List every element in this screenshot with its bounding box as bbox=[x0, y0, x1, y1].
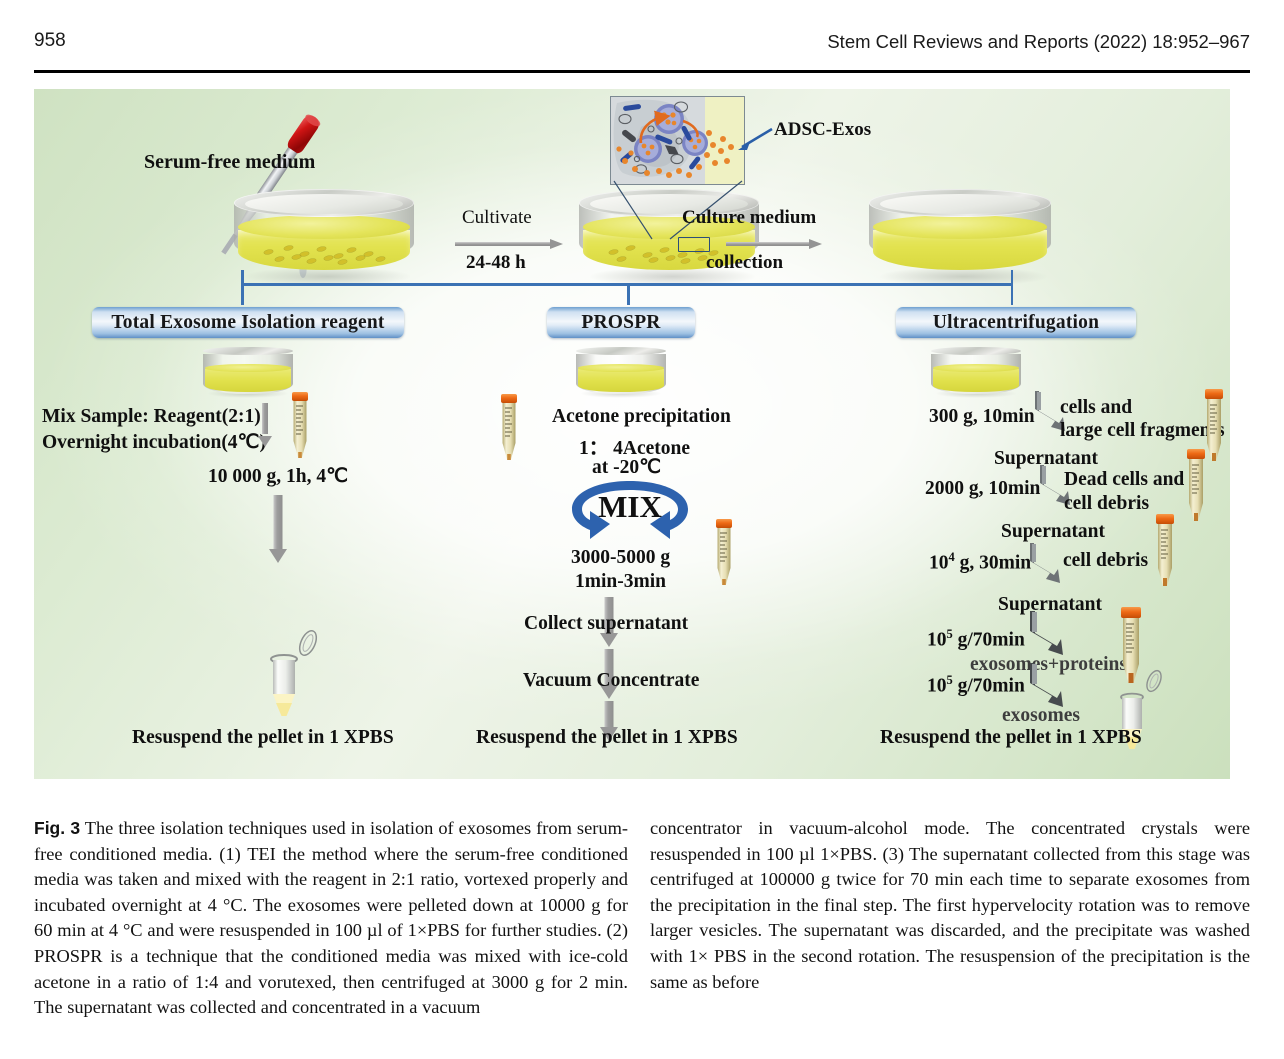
mix-circular-arrows-icon: MIX bbox=[560, 477, 700, 543]
tube-icon-prospr-2 bbox=[711, 519, 737, 589]
figure-caption-left: Fig. 3 The three isolation techniques us… bbox=[34, 816, 628, 1021]
uc-step5-tail: g/70min bbox=[953, 676, 1025, 697]
collection-arrow-icon bbox=[726, 239, 822, 249]
prospr-final: Resuspend the pellet in 1 XPBS bbox=[476, 727, 738, 749]
eppendorf-pellet-tube-tei bbox=[264, 627, 326, 719]
culture-medium-label: Culture medium bbox=[682, 207, 816, 229]
prospr-line1: Acetone precipitation bbox=[552, 406, 731, 428]
journal-citation: Stem Cell Reviews and Reports (2022) 18:… bbox=[827, 31, 1250, 53]
uc-step3-speed: 104 g, 30min bbox=[929, 550, 1031, 575]
figure-caption-left-text: The three isolation techniques used in i… bbox=[34, 818, 628, 1017]
uc-step4-base: 10 bbox=[927, 630, 947, 651]
prospr-collect: Collect supernatant bbox=[524, 613, 688, 635]
figure-caption-right: concentrator in vacuum-alcohol mode. The… bbox=[650, 816, 1250, 995]
uc-step1-out-a: cells and bbox=[1060, 397, 1132, 419]
cultivate-label: Cultivate bbox=[462, 207, 532, 229]
uc-bent-arrow-4 bbox=[1024, 609, 1072, 659]
uc-supernatant-2: Supernatant bbox=[1001, 521, 1105, 543]
svg-text:MIX: MIX bbox=[598, 489, 662, 524]
banner-ultracentrifugation[interactable]: Ultracentrifugation bbox=[896, 307, 1136, 338]
tei-arrow-2 bbox=[268, 495, 288, 563]
uc-step3-tail: g, 30min bbox=[955, 553, 1031, 574]
exosome-inset-image bbox=[610, 96, 745, 185]
uc-step2-out-b: cell debris bbox=[1064, 493, 1149, 515]
tei-mix-line2: Overnight incubation(4℃) bbox=[42, 430, 266, 454]
beaker-tei bbox=[203, 347, 293, 395]
uc-bent-arrow-5 bbox=[1024, 661, 1072, 711]
uc-step1-speed: 300 g, 10min bbox=[929, 406, 1035, 428]
tube-icon-uc-2 bbox=[1182, 449, 1210, 525]
header-rule bbox=[34, 70, 1250, 73]
tei-mix-line1: Mix Sample: Reagent(2:1) bbox=[42, 406, 261, 428]
prospr-vacuum: Vacuum Concentrate bbox=[523, 670, 699, 692]
tube-icon-prospr-1 bbox=[496, 394, 522, 464]
tei-spin-label: 10 000 g, 1h, 4℃ bbox=[208, 464, 348, 488]
serum-free-medium-label: Serum-free medium bbox=[144, 151, 315, 174]
branch-bracket bbox=[241, 270, 1013, 304]
uc-step3-base: 10 bbox=[929, 553, 949, 574]
prospr-spin1: 3000-5000 g bbox=[571, 547, 670, 569]
page-number: 958 bbox=[34, 30, 66, 52]
petri-dish-1 bbox=[234, 189, 414, 281]
cells-cluster bbox=[252, 242, 396, 266]
banner-tei-label: Total Exosome Isolation reagent bbox=[111, 312, 384, 334]
beaker-uc bbox=[931, 347, 1021, 395]
tei-arrow-1 bbox=[257, 403, 273, 447]
banner-uc-label: Ultracentrifugation bbox=[933, 312, 1099, 334]
beaker-prospr bbox=[576, 347, 666, 395]
uc-step2-out-a: Dead cells and bbox=[1064, 469, 1184, 491]
adsc-exos-arrow-icon bbox=[734, 125, 774, 155]
petri-dish-3 bbox=[869, 189, 1051, 281]
uc-bent-arrow-3 bbox=[1024, 541, 1068, 587]
figure-panel: Serum-free medium Cultivate 24-48 h bbox=[34, 89, 1230, 779]
cultivate-arrow-icon bbox=[455, 239, 563, 249]
prospr-spin2: 1min-3min bbox=[575, 571, 666, 593]
uc-step5-out: exosomes bbox=[1002, 705, 1080, 727]
banner-prospr-label: PROSPR bbox=[581, 312, 660, 334]
uc-step5-base: 10 bbox=[927, 676, 947, 697]
uc-step2-speed: 2000 g, 10min bbox=[925, 478, 1040, 500]
uc-step4-speed: 105 g/70min bbox=[927, 627, 1025, 652]
adsc-exos-label: ADSC-Exos bbox=[774, 119, 871, 141]
uc-final-label: Resuspend the pellet in 1 XPBS bbox=[880, 727, 1142, 749]
banner-prospr[interactable]: PROSPR bbox=[547, 307, 695, 338]
prospr-line3: at -20℃ bbox=[592, 455, 661, 479]
uc-step5-speed: 105 g/70min bbox=[927, 673, 1025, 698]
banner-tei[interactable]: Total Exosome Isolation reagent bbox=[92, 307, 404, 338]
figure-caption-label: Fig. 3 bbox=[34, 818, 80, 838]
tube-icon-tei bbox=[287, 392, 313, 462]
uc-step3-out: cell debris bbox=[1063, 550, 1148, 572]
uc-step4-tail: g/70min bbox=[953, 630, 1025, 651]
tube-icon-uc-3 bbox=[1151, 514, 1179, 590]
page-header: 958 Stem Cell Reviews and Reports (2022)… bbox=[34, 30, 1250, 64]
tei-final-label: Resuspend the pellet in 1 XPBS bbox=[132, 727, 394, 749]
